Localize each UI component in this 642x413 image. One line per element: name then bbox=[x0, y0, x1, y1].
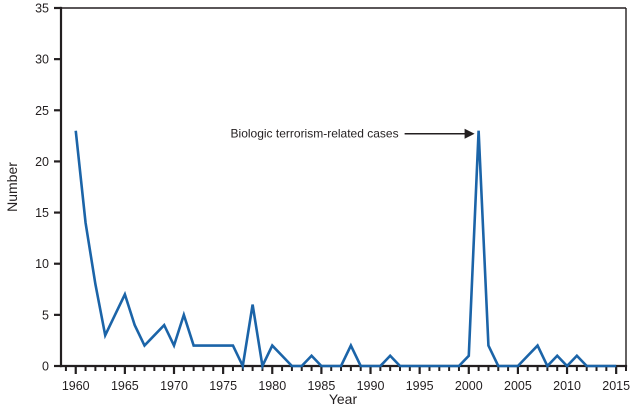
annotation-label: Biologic terrorism-related cases bbox=[231, 127, 399, 141]
y-tick-label: 15 bbox=[35, 206, 49, 220]
x-axis-title: Year bbox=[329, 391, 358, 407]
y-axis-title: Number bbox=[4, 162, 20, 212]
x-axis-ticks: 1960196519701975198019851990199520002005… bbox=[62, 366, 630, 393]
y-tick-label: 25 bbox=[35, 104, 49, 118]
x-tick-label: 1990 bbox=[357, 379, 385, 393]
plot-frame bbox=[61, 8, 626, 366]
y-tick-label: 20 bbox=[35, 155, 49, 169]
series-line-number-of-cases bbox=[76, 131, 616, 366]
x-tick-label: 1960 bbox=[62, 379, 90, 393]
x-tick-label: 2005 bbox=[504, 379, 532, 393]
x-tick-label: 2015 bbox=[602, 379, 630, 393]
x-tick-label: 1975 bbox=[209, 379, 237, 393]
y-axis-ticks: 05101520253035 bbox=[35, 2, 61, 374]
y-tick-label: 10 bbox=[35, 257, 49, 271]
annotation-arrow-head bbox=[465, 129, 475, 139]
x-tick-label: 2000 bbox=[455, 379, 483, 393]
x-tick-label: 2010 bbox=[553, 379, 581, 393]
x-tick-label: 1980 bbox=[258, 379, 286, 393]
x-tick-label: 1970 bbox=[160, 379, 188, 393]
y-tick-label: 30 bbox=[35, 53, 49, 67]
annotation-biologic-terrorism: Biologic terrorism-related cases bbox=[231, 127, 475, 141]
line-chart-svg: 05101520253035 1960196519701975198019851… bbox=[0, 0, 642, 413]
y-tick-label: 35 bbox=[35, 2, 49, 16]
y-tick-label: 5 bbox=[42, 308, 49, 322]
y-tick-label: 0 bbox=[42, 360, 49, 374]
x-tick-label: 1995 bbox=[406, 379, 434, 393]
chart-figure: 05101520253035 1960196519701975198019851… bbox=[0, 0, 642, 413]
data-series-group bbox=[76, 131, 616, 366]
x-tick-label: 1965 bbox=[111, 379, 139, 393]
